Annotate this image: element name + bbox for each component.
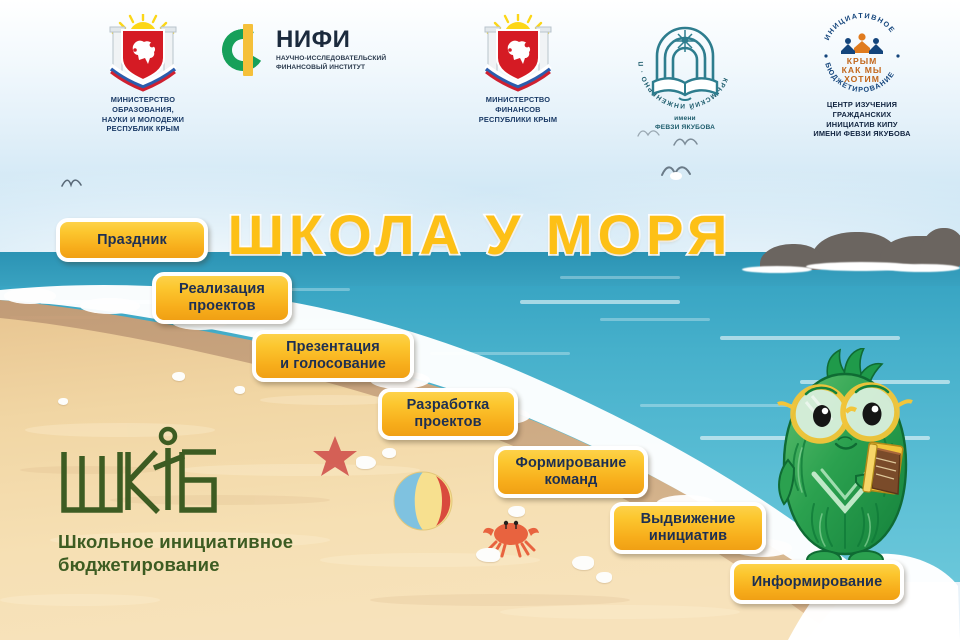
logo-caption: МИНИСТЕРСТВО ОБРАЗОВАНИЯ, НАУКИ И МОЛОДЕ… [58,95,228,134]
logo-ministry-finance[interactable]: МИНИСТЕРСТВО ФИНАНСОВ РЕСПУБЛИКИ КРЫМ [443,14,593,124]
shkib-acronym-icon [58,424,220,520]
crimea-coat-of-arms-icon [105,14,181,92]
step-label-line: Реализация [179,281,265,298]
seashell-icon [476,548,500,562]
seashell-icon [234,386,245,394]
seashell-icon [58,398,68,405]
step-label-line: Праздник [97,232,167,249]
logo-civic-initiatives[interactable]: ИНИЦИАТИВНОЕ БЮДЖЕТИРОВАНИЕ КРЫМ КАК МЫ [772,8,952,139]
seashell-icon [172,372,185,381]
starfish-icon [312,434,358,478]
shkib-caption-line: Школьное инициативное [58,531,293,554]
step-label-line: и голосование [280,356,386,373]
beach-ball-icon [392,470,454,532]
step-label-line: проектов [407,414,490,431]
svg-text:КРЫМСКИЙ ИНЖЕНЕРНО · ПЕДАГОГИЧ: КРЫМСКИЙ ИНЖЕНЕРНО · ПЕДАГОГИЧЕСКИЙ УНИВ… [633,10,729,111]
step-label-line: Информирование [752,574,882,591]
poster-canvas: ШКОЛА У МОРЯ [0,0,960,640]
step-label-line: Презентация [280,339,386,356]
logo-ministry-education[interactable]: МИНИСТЕРСТВО ОБРАЗОВАНИЯ, НАУКИ И МОЛОДЕ… [58,14,228,134]
logo-caption: МИНИСТЕРСТВО ФИНАНСОВ РЕСПУБЛИКИ КРЫМ [443,95,593,124]
step-pill-prezentaciya[interactable]: Презентация и голосование [252,330,414,382]
open-book-university-icon: КРЫМСКИЙ ИНЖЕНЕРНО · ПЕДАГОГИЧЕСКИЙ УНИВ… [633,10,737,114]
partner-logo-bar: МИНИСТЕРСТВО ОБРАЗОВАНИЯ, НАУКИ И МОЛОДЕ… [0,0,960,145]
seashell-icon [508,506,525,517]
initiative-budgeting-seal-icon: ИНИЦИАТИВНОЕ БЮДЖЕТИРОВАНИЕ КРЫМ КАК МЫ [814,8,910,100]
logo-caption-line: ФИНАНСОВЫЙ ИНСТИТУТ [276,64,386,73]
seashell-icon [572,556,594,570]
seashell-icon [356,456,376,469]
step-pill-formirovanie[interactable]: Формирование команд [494,446,648,498]
seashell-icon [382,448,396,458]
step-label-line: проектов [179,298,265,315]
seashell-icon [596,572,612,583]
crimea-coat-of-arms-icon [480,14,556,92]
step-pill-realizaciya[interactable]: Реализация проектов [152,272,292,324]
nifi-logo-icon [222,24,268,76]
step-pill-informirovanie[interactable]: Информирование [730,560,904,604]
step-label-line: Формирование [516,455,627,472]
seagull-icon [60,176,90,192]
shkib-logo[interactable]: Школьное инициативное бюджетирование [58,424,293,576]
shkib-caption-line: бюджетирование [58,554,293,577]
logo-caption-line: НАУЧНО-ИССЛЕДОВАТЕЛЬСКИЙ [276,55,386,64]
step-pill-prazdnik[interactable]: Праздник [56,218,208,262]
logo-kipu[interactable]: КРЫМСКИЙ ИНЖЕНЕРНО · ПЕДАГОГИЧЕСКИЙ УНИВ… [620,10,750,132]
step-label-line: команд [516,472,627,489]
nifi-wordmark: НИФИ [276,28,386,52]
logo-nifi[interactable]: НИФИ НАУЧНО-ИССЛЕДОВАТЕЛЬСКИЙ ФИНАНСОВЫЙ… [222,24,427,76]
logo-caption: ЦЕНТР ИЗУЧЕНИЯ ГРАЖДАНСКИХ ИНИЦИАТИВ КИП… [772,100,952,139]
seagull-icon [660,162,694,182]
step-label-line: Выдвижение [641,511,736,528]
step-label-line: Разработка [407,397,490,414]
step-pill-razrabotka[interactable]: Разработка проектов [378,388,518,440]
shkib-caption: Школьное инициативное бюджетирование [58,531,293,576]
step-label-line: инициатив [641,528,736,545]
svg-text:ХОТИМ: ХОТИМ [844,74,880,84]
step-pill-vydvizhenie[interactable]: Выдвижение инициатив [610,502,766,554]
logo-caption: имени ФЕВЗИ ЯКУБОВА [620,115,750,132]
